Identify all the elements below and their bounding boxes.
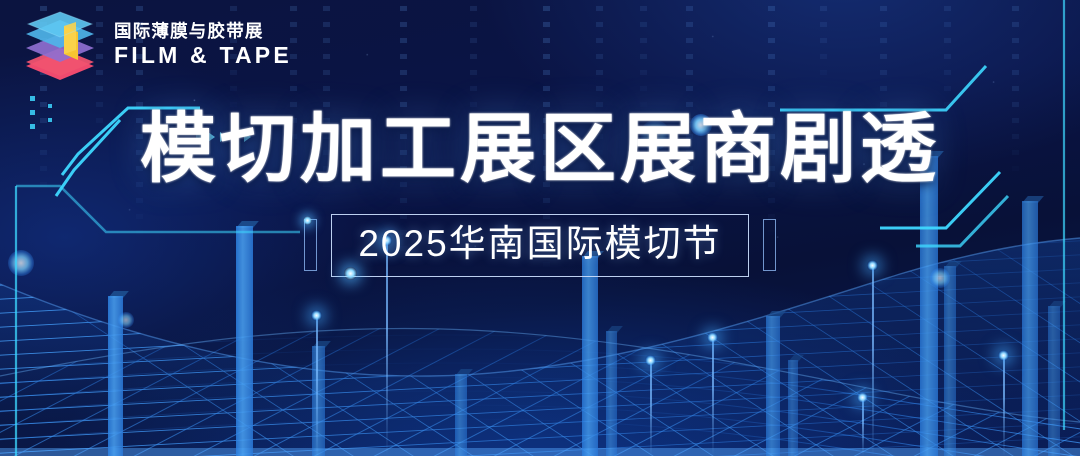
glow-orb [118,312,134,328]
film-tape-layered-logo-icon [18,10,102,80]
right-bracket-tick [763,219,776,271]
brand-name-cn: 国际薄膜与胶带展 [114,23,292,41]
event-banner: 国际薄膜与胶带展 FILM & TAPE 模切加工展区展商剧透 2025华南国际… [0,0,1080,456]
left-bracket-tick [304,219,317,271]
brand-name-en: FILM & TAPE [114,44,292,67]
headline-group: 模切加工展区展商剧透 2025华南国际模切节 [0,112,1080,277]
brand-wordmark: 国际薄膜与胶带展 FILM & TAPE [114,23,292,67]
page-title: 模切加工展区展商剧透 [140,112,940,188]
brand-logo-lockup[interactable]: 国际薄膜与胶带展 FILM & TAPE [18,10,292,80]
subtitle-frame: 2025华南国际模切节 [331,214,748,277]
subtitle-group: 2025华南国际模切节 [304,214,775,277]
event-subtitle: 2025华南国际模切节 [358,224,721,265]
